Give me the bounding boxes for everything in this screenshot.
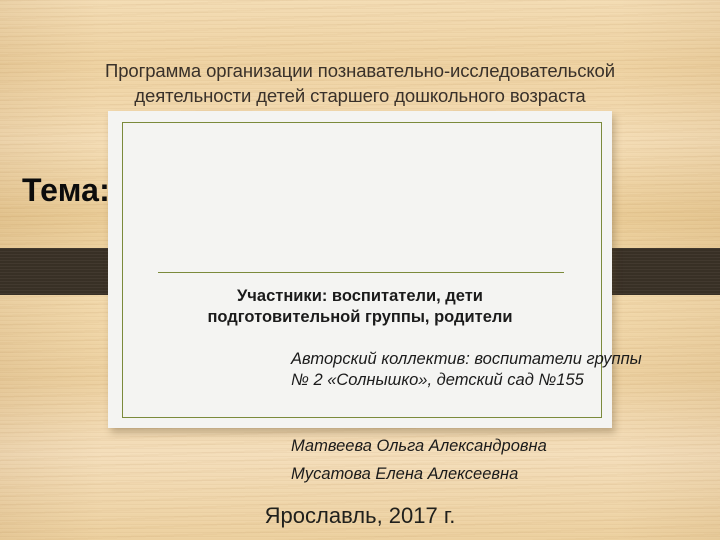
participants-line-1: Участники: воспитатели, дети bbox=[140, 286, 580, 307]
slide-title-line-1: Программа организации познавательно-иссл… bbox=[60, 58, 660, 83]
slide-title: Программа организации познавательно-иссл… bbox=[60, 58, 660, 108]
author-name-1: Матвеева Ольга Александровна bbox=[291, 432, 711, 460]
slide-title-line-2: деятельности детей старшего дошкольного … bbox=[60, 83, 660, 108]
presentation-slide: Программа организации познавательно-иссл… bbox=[0, 0, 720, 540]
place-and-year: Ярославль, 2017 г. bbox=[0, 503, 720, 529]
topic-label: Тема: bbox=[22, 172, 110, 209]
authors-collective-text: Авторский коллектив: воспитатели группы … bbox=[291, 349, 715, 391]
participants-text: Участники: воспитатели, дети подготовите… bbox=[140, 286, 580, 328]
section-divider-line bbox=[158, 272, 564, 273]
authors-collective-line-1: Авторский коллектив: воспитатели группы bbox=[291, 349, 715, 370]
author-name-2: Мусатова Елена Алексеевна bbox=[291, 460, 711, 488]
authors-collective-line-2: № 2 «Солнышко», детский сад №155 bbox=[291, 370, 715, 391]
participants-line-2: подготовительной группы, родители bbox=[140, 307, 580, 328]
author-names-list: Матвеева Ольга Александровна Мусатова Ел… bbox=[291, 432, 711, 488]
